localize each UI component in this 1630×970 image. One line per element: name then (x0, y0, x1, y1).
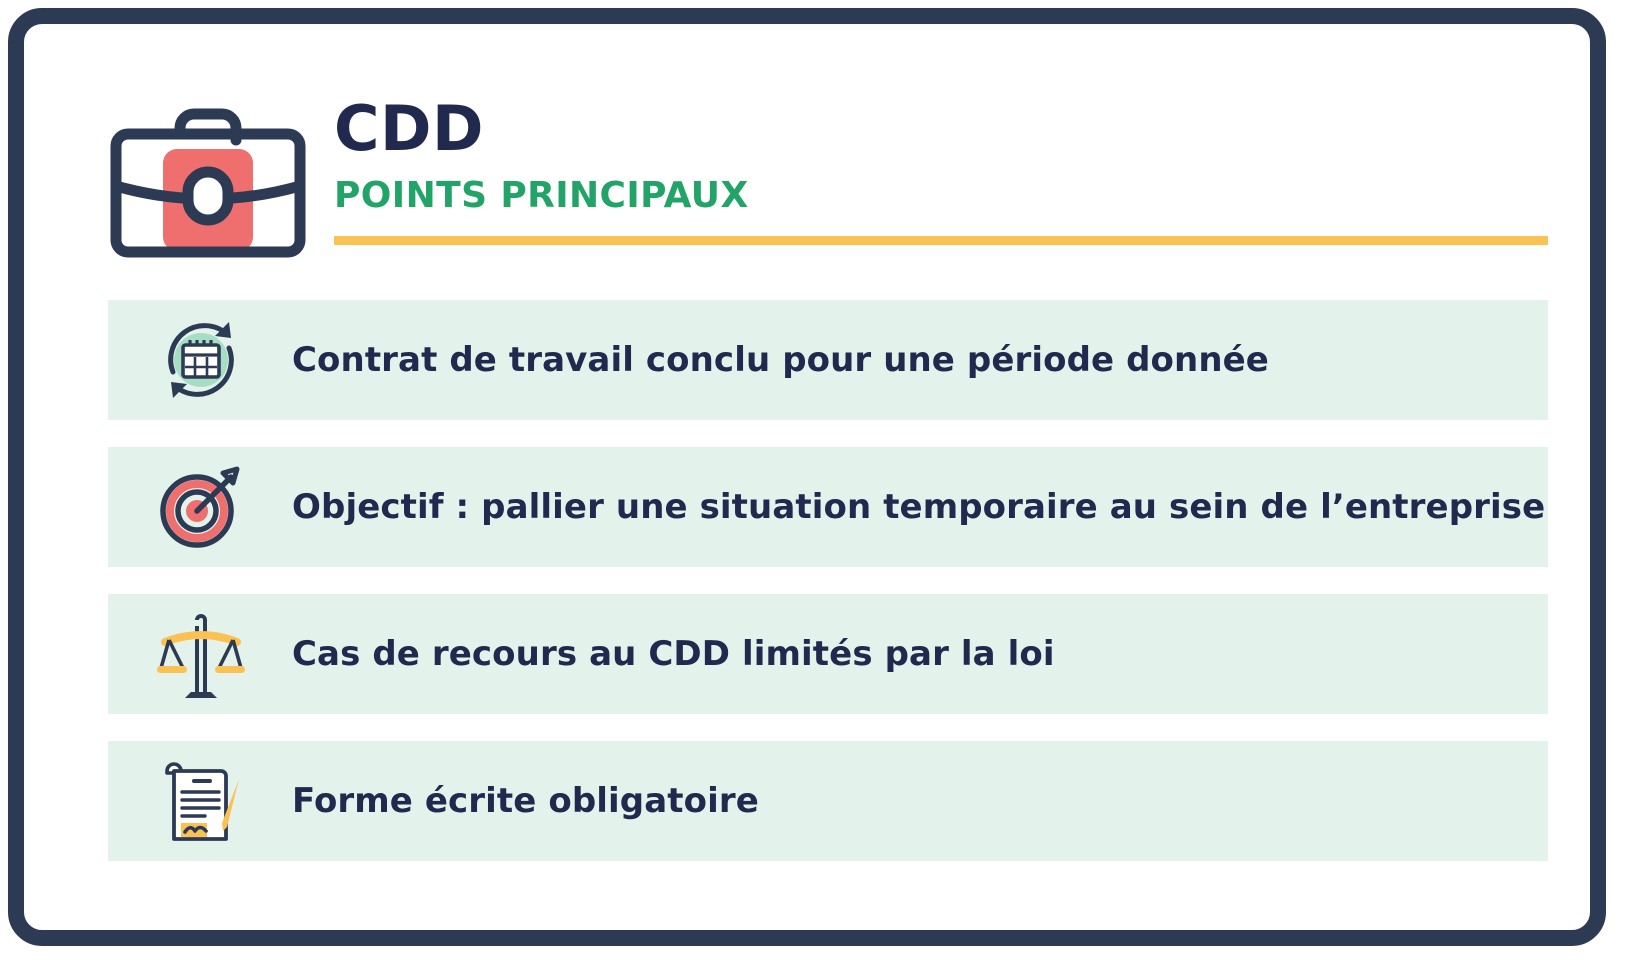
briefcase-icon (108, 94, 308, 259)
header: CDD POINTS PRINCIPAUX (108, 86, 1548, 276)
target-arrow-icon (146, 457, 256, 557)
header-rule (334, 236, 1548, 245)
page-subtitle: POINTS PRINCIPAUX (334, 160, 1544, 214)
list-item[interactable]: Forme écrite obligatoire (108, 741, 1548, 861)
list-item-label: Cas de recours au CDD limités par la loi (292, 634, 1055, 674)
list-item[interactable]: Objectif : pallier une situation tempora… (108, 447, 1548, 567)
infographic-card: CDD POINTS PRINCIPAUX (8, 8, 1606, 946)
signed-contract-icon (146, 751, 256, 851)
list-item-label: Contrat de travail conclu pour une pério… (292, 340, 1269, 380)
points-list: Contrat de travail conclu pour une pério… (108, 300, 1548, 888)
list-item-label: Objectif : pallier une situation tempora… (292, 487, 1545, 527)
card-inner: CDD POINTS PRINCIPAUX (24, 24, 1590, 930)
list-item[interactable]: Cas de recours au CDD limités par la loi (108, 594, 1548, 714)
list-item-label: Forme écrite obligatoire (292, 781, 759, 821)
header-text-block: CDD POINTS PRINCIPAUX (334, 86, 1544, 245)
balance-scales-icon (146, 604, 256, 704)
calendar-refresh-icon (146, 310, 256, 410)
page-title: CDD (334, 86, 1544, 160)
list-item[interactable]: Contrat de travail conclu pour une pério… (108, 300, 1548, 420)
